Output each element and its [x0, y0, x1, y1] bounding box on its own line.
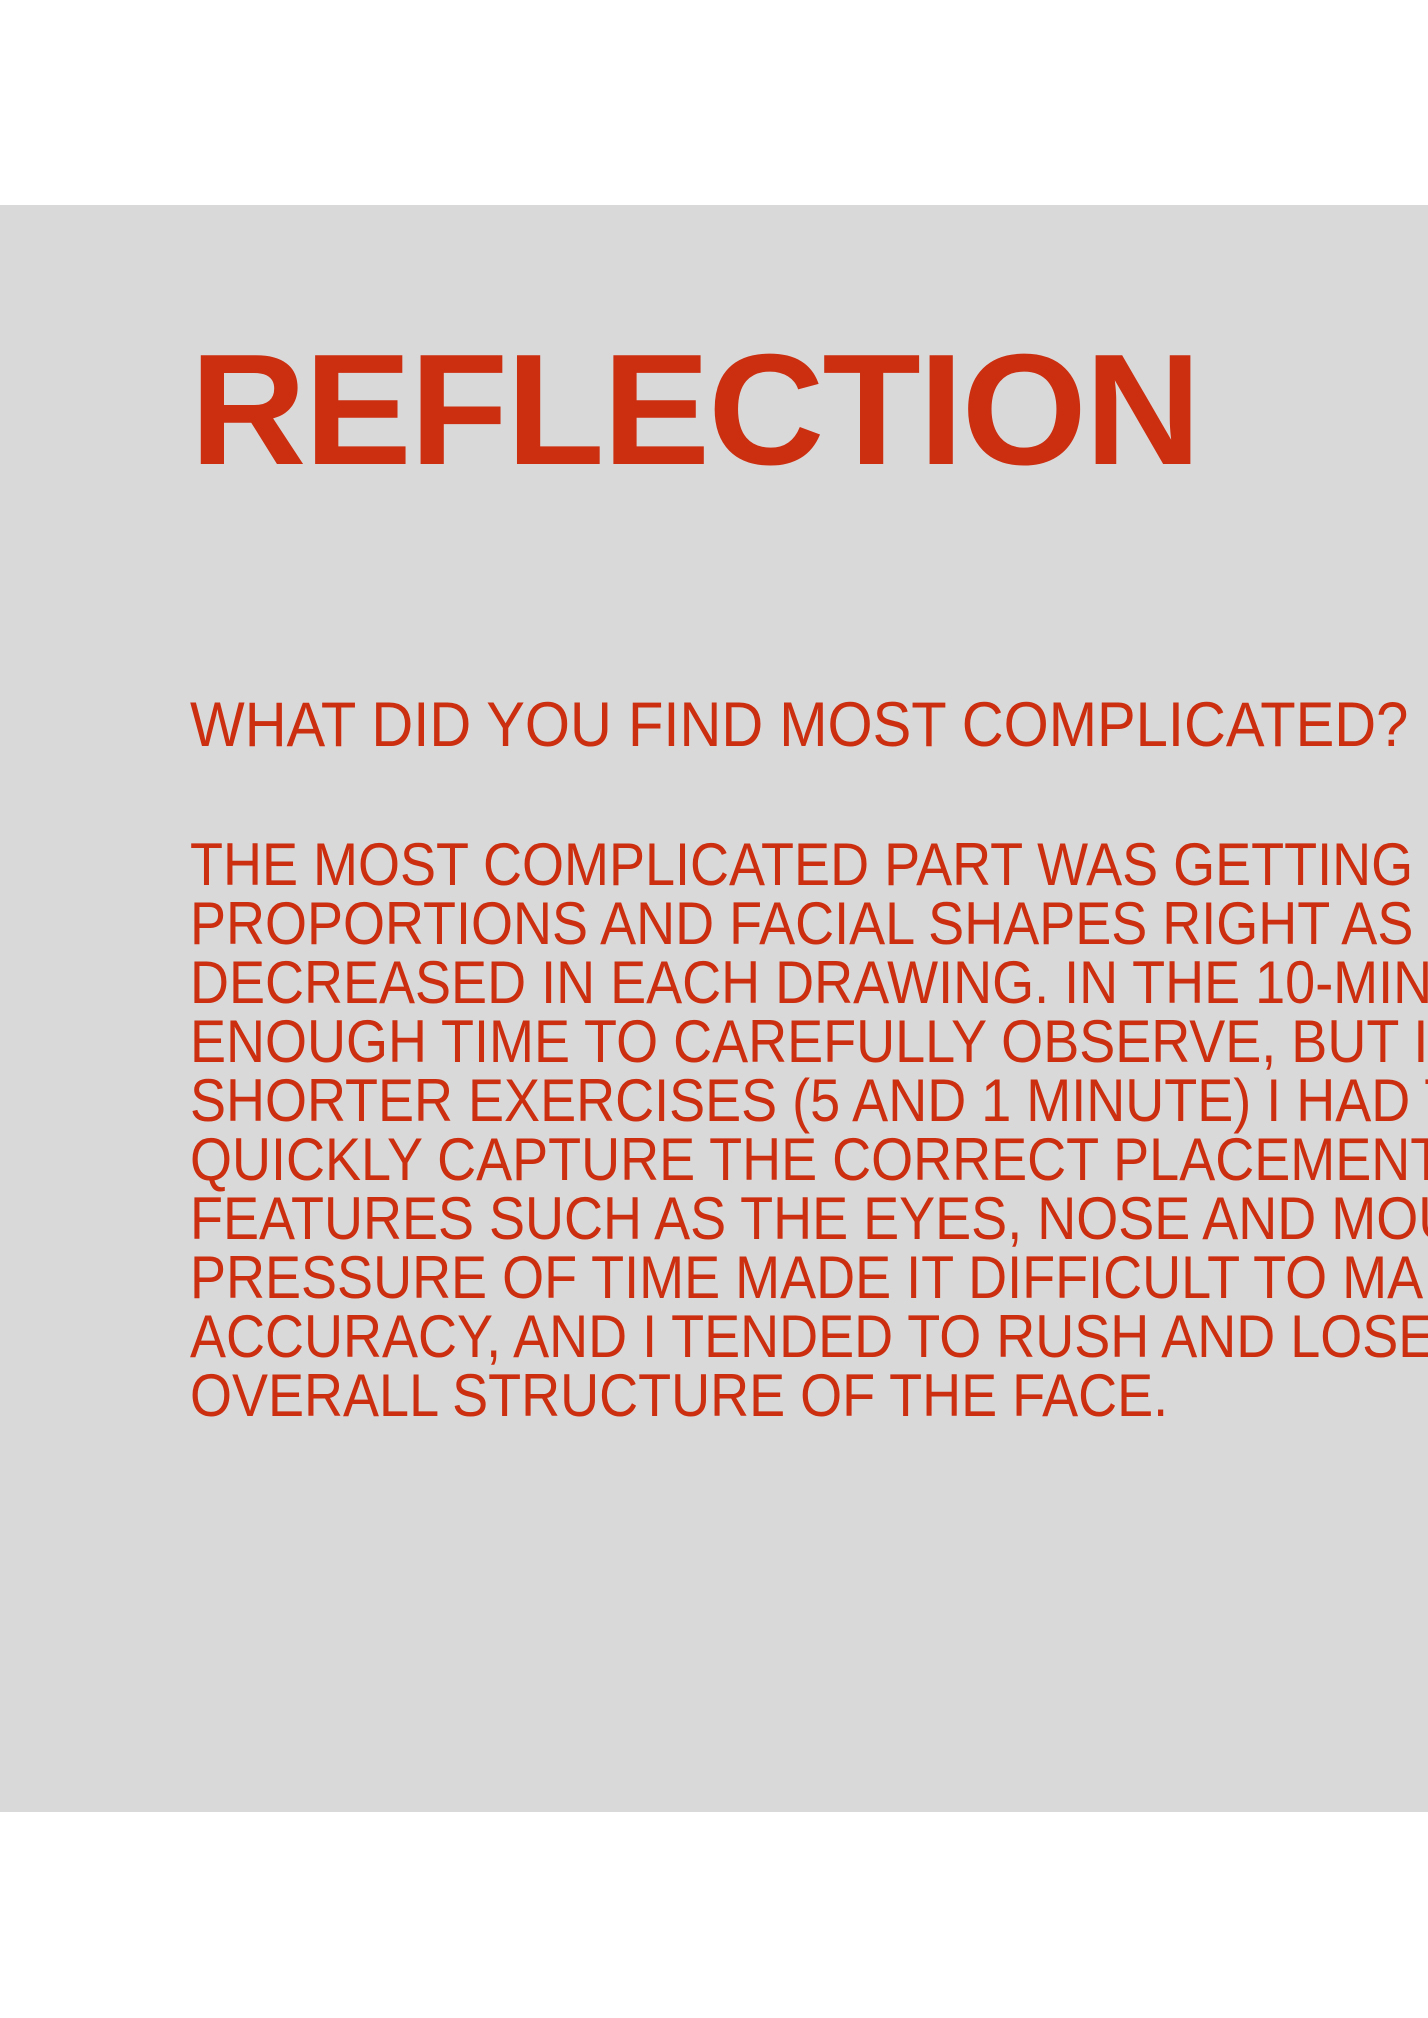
body-line: DECREASED IN EACH DRAWING. IN THE 10-MIN…: [190, 953, 1428, 1012]
body-line: PRESSURE OF TIME MADE IT DIFFICULT TO MA…: [190, 1248, 1428, 1307]
body-line: ACCURACY, AND I TENDED TO RUSH AND LOSE …: [190, 1307, 1428, 1366]
body-line: PROPORTIONS AND FACIAL SHAPES RIGHT AS T…: [190, 894, 1428, 953]
page-title: REFLECTION: [190, 335, 1199, 485]
poster-subtitle: WHAT DID YOU FIND MOST COMPLICATED?: [190, 692, 1408, 758]
body-line: QUICKLY CAPTURE THE CORRECT PLACEMENT OF: [190, 1130, 1428, 1189]
body-line: ENOUGH TIME TO CAREFULLY OBSERVE, BUT IN…: [190, 1012, 1428, 1071]
body-line: THE MOST COMPLICATED PART WAS GETTING TH…: [190, 835, 1428, 894]
poster-body-text: THE MOST COMPLICATED PART WAS GETTING TH…: [190, 835, 1428, 1425]
slide-panel: REFLECTION WHAT DID YOU FIND MOST COMPLI…: [0, 205, 1428, 1812]
body-line: OVERALL STRUCTURE OF THE FACE.: [190, 1366, 1428, 1425]
body-line: SHORTER EXERCISES (5 AND 1 MINUTE) I HAD…: [190, 1071, 1428, 1130]
body-line: FEATURES SUCH AS THE EYES, NOSE AND MOUT…: [190, 1189, 1428, 1248]
